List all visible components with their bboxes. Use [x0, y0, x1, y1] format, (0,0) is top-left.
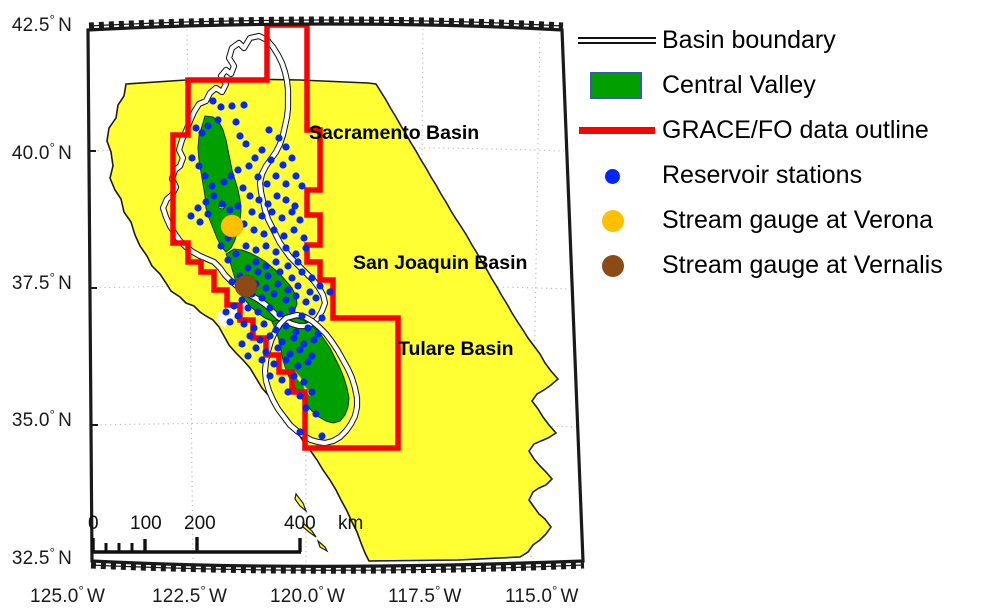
reservoir-station-dot — [274, 344, 281, 351]
reservoir-station-dot — [236, 132, 243, 139]
longitude-label-117-5: 117.5°W — [388, 583, 462, 608]
reservoir-station-dot — [270, 226, 277, 233]
reservoir-station-dot — [302, 244, 309, 251]
reservoir-station-dot — [306, 288, 313, 295]
reservoir-station-dot — [270, 290, 277, 297]
reservoir-station-dot — [244, 304, 251, 311]
reservoir-station-dot — [282, 143, 289, 150]
reservoir-station-dot — [262, 242, 269, 249]
circle-marker-icon — [602, 255, 624, 277]
reservoir-station-dot — [222, 308, 229, 315]
reservoir-station-dot — [217, 242, 224, 249]
reservoir-station-dot — [296, 428, 303, 435]
reservoir-station-dot — [318, 432, 325, 439]
longitude-label-125-0: 125.0°W — [30, 583, 105, 608]
reservoir-station-dot — [275, 134, 282, 141]
reservoir-station-dot — [264, 200, 271, 207]
reservoir-station-dot — [308, 308, 315, 315]
reservoir-station-dot — [292, 250, 299, 257]
hemisphere: W — [206, 586, 227, 607]
reservoir-station-dot — [224, 256, 231, 263]
double-line-icon — [578, 37, 656, 45]
scale-bar-labels: 0100200400km — [88, 513, 318, 537]
reservoir-station-dot — [227, 172, 234, 179]
reservoir-station-dot — [245, 162, 252, 169]
legend-label: Reservoir stations — [662, 163, 862, 188]
reservoir-station-dot — [274, 280, 281, 287]
reservoir-station-dot — [246, 332, 253, 339]
scale-tick-label-200: 200 — [184, 513, 216, 535]
reservoir-station-dot — [276, 310, 283, 317]
reservoir-station-dot — [284, 286, 291, 293]
reservoir-station-dot — [238, 340, 245, 347]
reservoir-station-dot — [318, 314, 325, 321]
stream-gauge-vernalis-marker — [235, 275, 257, 297]
scale-tick-label-400: 400 — [284, 513, 316, 535]
reservoir-station-dot — [252, 258, 259, 265]
reservoir-station-dot — [278, 214, 285, 221]
reservoir-station-dot — [252, 246, 259, 253]
circle-marker-icon — [605, 169, 620, 184]
reservoir-station-dot — [300, 378, 307, 385]
scale-bar-graphic — [88, 535, 318, 565]
reservoir-station-dot — [284, 388, 291, 395]
green-swatch-icon — [590, 72, 642, 99]
legend-label: Central Valley — [662, 73, 816, 98]
reservoir-station-dot — [262, 262, 269, 269]
reservoir-station-dot — [294, 362, 301, 369]
reservoir-station-dot — [214, 116, 221, 123]
reservoir-station-dot — [248, 208, 255, 215]
reservoir-station-dot — [220, 178, 227, 185]
reservoir-station-dot — [272, 172, 279, 179]
reservoir-station-dot — [239, 184, 246, 191]
reservoir-station-dot — [266, 332, 273, 339]
reservoir-station-dot — [294, 258, 301, 265]
legend-label: GRACE/FO data outline — [662, 118, 929, 143]
reservoir-station-dot — [284, 262, 291, 269]
reservoir-station-dot — [263, 180, 270, 187]
hemisphere: W — [324, 586, 345, 607]
scale-unit-label: km — [338, 513, 363, 535]
reservoir-station-dot — [310, 336, 317, 343]
map-panel: 0100200400km 42.5°N40.0°N37.5°N35.0°N32.… — [0, 0, 600, 614]
reservoir-station-dot — [242, 242, 249, 249]
reservoir-station-dot — [302, 404, 309, 411]
hemisphere: N — [55, 548, 72, 569]
reservoir-station-dot — [267, 156, 274, 163]
latitude-label-32-5: 32.5°N — [8, 545, 72, 570]
reservoir-station-dot — [286, 350, 293, 357]
san-joaquin-basin-label: San Joaquin Basin — [353, 252, 527, 275]
legend-dot-key-5 — [578, 243, 662, 288]
reservoir-station-dot — [296, 346, 303, 353]
reservoir-station-dot — [252, 344, 259, 351]
legend-label: Stream gauge at Vernalis — [662, 253, 943, 278]
legend-dot-key-3 — [578, 153, 662, 198]
reservoir-station-dot — [265, 126, 272, 133]
sacramento-basin-label: Sacramento Basin — [309, 122, 479, 145]
reservoir-station-dot — [226, 318, 233, 325]
longitude-label-120-0: 120.0°W — [270, 583, 345, 608]
reservoir-station-dot — [202, 198, 209, 205]
reservoir-station-dot — [272, 326, 279, 333]
lat-value: 35.0 — [12, 410, 50, 431]
reservoir-station-dot — [282, 244, 289, 251]
reservoir-station-dot — [282, 296, 289, 303]
legend-row-1[interactable]: Central Valley — [578, 63, 997, 108]
reservoir-station-dot — [230, 302, 237, 309]
lat-value: 40.0 — [12, 143, 50, 164]
reservoir-station-dot — [260, 230, 267, 237]
reservoir-station-dot — [298, 182, 305, 189]
reservoir-station-dot — [262, 348, 269, 355]
reservoir-station-dot — [282, 196, 289, 203]
hemisphere: N — [55, 273, 72, 294]
lon-value: 125.0 — [30, 586, 79, 607]
reservoir-station-dot — [308, 388, 315, 395]
reservoir-station-dot — [264, 272, 271, 279]
lon-value: 120.0 — [270, 586, 319, 607]
reservoir-station-dot — [204, 122, 211, 129]
reservoir-station-dot — [260, 320, 267, 327]
hemisphere: N — [55, 410, 72, 431]
tulare-basin-label: Tulare Basin — [398, 338, 514, 361]
reservoir-station-dot — [300, 234, 307, 241]
reservoir-station-dot — [282, 356, 289, 363]
reservoir-station-dot — [251, 154, 258, 161]
reservoir-station-dot — [204, 210, 211, 217]
reservoir-station-dot — [258, 294, 265, 301]
reservoir-station-dot — [304, 358, 311, 365]
reservoir-station-dot — [300, 340, 307, 347]
reservoir-station-dot — [314, 330, 321, 337]
reservoir-station-dot — [316, 282, 323, 289]
legend-row-2[interactable]: GRACE/FO data outline — [578, 108, 997, 153]
reservoir-station-dot — [282, 180, 289, 187]
reservoir-station-dot — [256, 336, 263, 343]
reservoir-station-dot — [198, 129, 205, 136]
legend-label: Basin boundary — [662, 28, 836, 53]
reservoir-station-dot — [288, 306, 295, 313]
reservoir-station-dot — [234, 312, 241, 319]
reservoir-station-dot — [298, 312, 305, 319]
legend-dot-key-4 — [578, 198, 662, 243]
reservoir-station-dot — [278, 376, 285, 383]
lon-value: 122.5 — [152, 586, 201, 607]
reservoir-station-dot — [240, 101, 247, 108]
reservoir-station-dot — [298, 268, 305, 275]
reservoir-station-dot — [312, 410, 319, 417]
reservoir-station-dot — [240, 320, 247, 327]
hemisphere: W — [84, 586, 105, 607]
scale-tick-label-100: 100 — [130, 513, 162, 535]
grace-outline-key-line — [578, 108, 662, 153]
hemisphere: W — [558, 586, 579, 607]
lon-value: 115.0 — [505, 586, 552, 607]
hemisphere: N — [55, 15, 72, 36]
reservoir-station-dot — [192, 124, 199, 131]
reservoir-station-dot — [272, 248, 279, 255]
reservoir-station-dot — [250, 324, 257, 331]
reservoir-station-dot — [226, 206, 233, 213]
legend-row-3[interactable]: Reservoir stations — [578, 153, 997, 198]
longitude-label-115-0: 115.0°W — [505, 583, 579, 608]
reservoir-station-dot — [278, 338, 285, 345]
legend-label: Stream gauge at Verona — [662, 208, 933, 233]
reservoir-station-dot — [217, 103, 224, 110]
reservoir-station-dot — [238, 296, 245, 303]
reservoir-station-dot — [209, 97, 216, 104]
central-valley-key-swatch — [578, 63, 662, 108]
hemisphere: W — [441, 586, 462, 607]
reservoir-station-dot — [201, 172, 208, 179]
longitude-label-122-5: 122.5°W — [152, 583, 227, 608]
reservoir-station-dot — [244, 264, 251, 271]
reservoir-station-dot — [218, 200, 225, 207]
reservoir-station-dot — [290, 372, 297, 379]
reservoir-station-dot — [273, 192, 280, 199]
reservoir-station-dot — [266, 304, 273, 311]
reservoir-station-dot — [242, 140, 249, 147]
reservoir-station-dot — [276, 268, 283, 275]
reservoir-station-dot — [187, 212, 194, 219]
reservoir-station-dot — [294, 282, 301, 289]
reservoir-station-dot — [194, 204, 201, 211]
red-line-icon — [579, 127, 655, 134]
reservoir-station-dot — [290, 334, 297, 341]
reservoir-station-dot — [292, 292, 299, 299]
reservoir-station-dot — [254, 268, 261, 275]
reservoir-station-dot — [258, 146, 265, 153]
reservoir-station-dot — [302, 298, 309, 305]
reservoir-station-dot — [288, 208, 295, 215]
reservoir-station-dot — [234, 202, 241, 209]
reservoir-station-dot — [210, 192, 217, 199]
circle-marker-icon — [602, 210, 624, 232]
reservoir-station-dot — [282, 322, 289, 329]
reservoir-station-dot — [308, 352, 315, 359]
degree-symbol: ° — [435, 583, 440, 598]
stream-gauge-verona-marker — [221, 215, 243, 237]
reservoir-station-dot — [232, 118, 239, 125]
reservoir-station-dot — [270, 360, 277, 367]
latitude-label-35-0: 35.0°N — [8, 407, 72, 432]
scale-tick-label-0: 0 — [88, 513, 99, 535]
lat-value: 42.5 — [12, 15, 50, 36]
reservoir-station-dot — [234, 166, 241, 173]
reservoir-station-dot — [266, 372, 273, 379]
reservoir-station-dot — [308, 274, 315, 281]
legend-row-4[interactable]: Stream gauge at Verona — [578, 198, 997, 243]
reservoir-station-dot — [280, 232, 287, 239]
reservoir-station-dot — [254, 308, 261, 315]
reservoir-station-dot — [288, 154, 295, 161]
reservoir-station-dot — [258, 356, 265, 363]
reservoir-station-dot — [296, 216, 303, 223]
hemisphere: N — [55, 143, 72, 164]
reservoir-station-dot — [304, 324, 311, 331]
reservoir-station-dot — [188, 154, 195, 161]
lon-value: 117.5 — [388, 586, 435, 607]
reservoir-station-dot — [312, 294, 319, 301]
reservoir-station-dot — [228, 102, 235, 109]
degree-symbol: ° — [552, 583, 557, 598]
reservoir-station-dot — [326, 288, 333, 295]
figure-root: 0100200400km 42.5°N40.0°N37.5°N35.0°N32.… — [0, 0, 997, 614]
basin-boundary-key-icon — [578, 18, 662, 63]
reservoir-station-dot — [254, 173, 261, 180]
scale-bar: 0100200400km — [88, 513, 318, 565]
reservoir-station-dot — [196, 218, 203, 225]
lat-value: 32.5 — [12, 548, 50, 569]
legend: Basin boundaryCentral ValleyGRACE/FO dat… — [578, 18, 997, 288]
reservoir-station-dot — [272, 258, 279, 265]
reservoir-station-dot — [228, 278, 235, 285]
reservoir-station-dot — [268, 208, 275, 215]
latitude-label-40-0: 40.0°N — [8, 140, 72, 165]
legend-row-0[interactable]: Basin boundary — [578, 18, 997, 63]
legend-row-5[interactable]: Stream gauge at Vernalis — [578, 243, 997, 288]
reservoir-station-dot — [258, 212, 265, 219]
reservoir-station-dot — [296, 392, 303, 399]
reservoir-station-dot — [255, 196, 262, 203]
latitude-label-37-5: 37.5°N — [8, 270, 72, 295]
reservoir-station-dot — [288, 274, 295, 281]
reservoir-station-dot — [262, 284, 269, 291]
lat-value: 37.5 — [12, 273, 50, 294]
reservoir-station-dot — [250, 226, 257, 233]
reservoir-station-dot — [208, 182, 215, 189]
reservoir-station-dot — [246, 192, 253, 199]
latitude-label-42-5: 42.5°N — [8, 12, 72, 37]
reservoir-station-dot — [232, 250, 239, 257]
reservoir-station-dot — [195, 162, 202, 169]
reservoir-station-dot — [244, 352, 251, 359]
reservoir-station-dot — [290, 226, 297, 233]
reservoir-station-dot — [279, 161, 286, 168]
reservoir-station-dot — [292, 172, 299, 179]
